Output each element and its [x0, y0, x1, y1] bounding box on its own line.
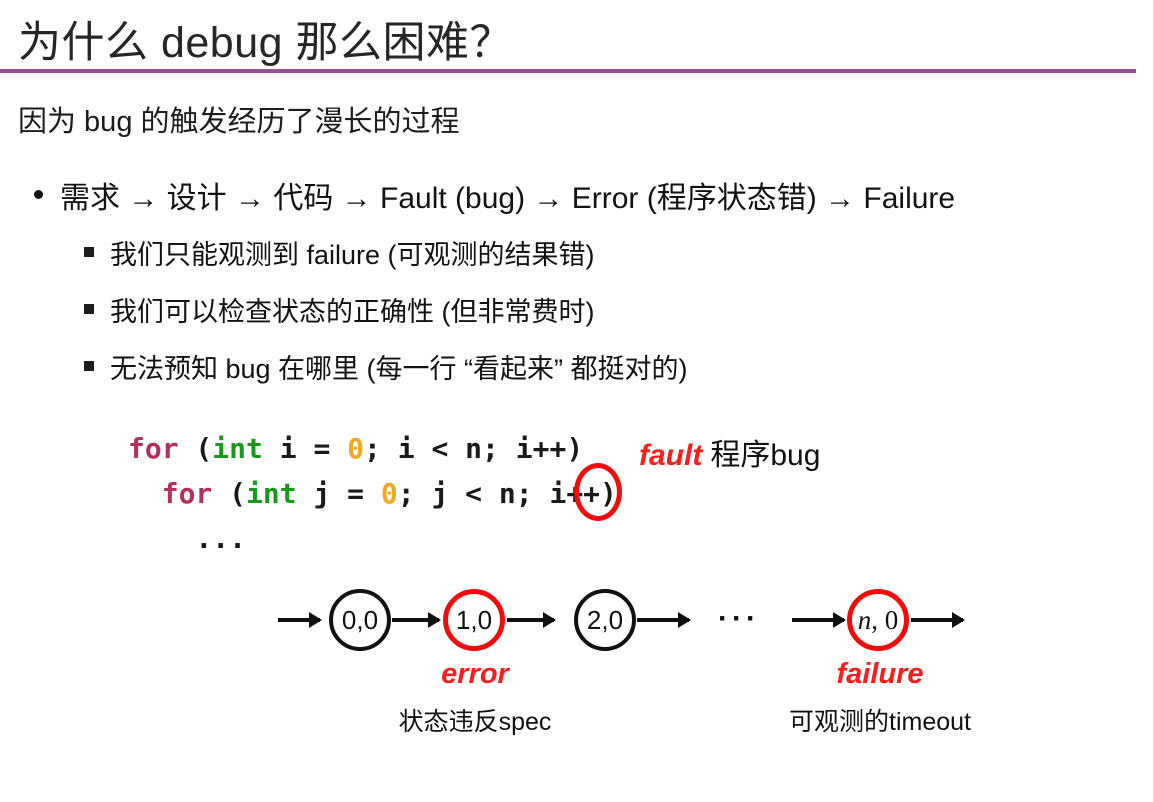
diagram-node-1-0: 1,0	[443, 589, 505, 651]
code-type-int-2: int	[246, 477, 297, 510]
diagram-node-n-0-rest: , 0	[871, 605, 898, 635]
bullet-square-icon	[84, 304, 94, 314]
fault-note-label: 程序bug	[710, 439, 820, 472]
bullet-sub-1: 我们只能观测到 failure (可观测的结果错)	[84, 233, 595, 272]
page-title: 为什么 debug 那么困难？	[18, 8, 513, 70]
diagram-node-0-0: 0,0	[329, 589, 391, 651]
code-number-2: 0	[381, 477, 398, 510]
diagram-node-0-0-label: 0,0	[342, 605, 378, 636]
diagram-arrow-out	[911, 618, 963, 622]
bullet-sub-3: 无法预知 bug 在哪里 (每一行 “看起来” 都挺对的)	[84, 347, 688, 386]
bullet-main-label: 需求 → 设计 → 代码 → Fault (bug) → Error (程序状态…	[60, 173, 955, 217]
code-var-2: j =	[297, 477, 381, 510]
code-var-1: i =	[263, 432, 347, 465]
failure-caption-label: 可观测的timeout	[765, 702, 995, 738]
diagram-arrow-2	[507, 618, 554, 622]
bullet-square-icon	[84, 247, 94, 257]
bullet-main: 需求 → 设计 → 代码 → Fault (bug) → Error (程序状态…	[34, 173, 955, 217]
diagram-node-2-0-label: 2,0	[587, 605, 623, 636]
bullet-sub-2: 我们可以检查状态的正确性 (但非常费时)	[84, 290, 594, 329]
diagram-arrow-4	[792, 618, 844, 622]
diagram-node-n-0: n, 0	[847, 589, 909, 651]
diagram-arrow-in	[278, 618, 320, 622]
subtitle-text: 因为 bug 的触发经历了漫长的过程	[18, 98, 460, 140]
failure-tag-label: failure	[805, 658, 955, 691]
fault-annotation: fault程序bug	[639, 430, 820, 474]
code-ellipsis-line: ...	[128, 522, 246, 555]
code-block: for (int i = 0; i < n; i++) for (int j =…	[128, 426, 617, 561]
bullet-square-icon	[84, 361, 94, 371]
code-keyword-for-1: for	[128, 432, 179, 465]
title-divider	[0, 69, 1136, 73]
code-indent-2	[128, 477, 162, 510]
bullet-sub-3-label: 无法预知 bug 在哪里 (每一行 “看起来” 都挺对的)	[110, 347, 688, 386]
diagram-arrow-3	[637, 618, 689, 622]
state-diagram: 0,0 1,0 2,0 ··· n, 0 error 状态违反spec fail	[0, 560, 1154, 760]
bullet-sub-1-label: 我们只能观测到 failure (可观测的结果错)	[110, 233, 595, 272]
diagram-node-2-0: 2,0	[574, 589, 636, 651]
code-punct-2: (	[212, 477, 246, 510]
code-number-1: 0	[347, 432, 364, 465]
code-type-int-1: int	[212, 432, 263, 465]
diagram-node-n-0-var: n	[858, 605, 872, 635]
code-keyword-for-2: for	[162, 477, 213, 510]
bug-highlight-ellipse-icon	[574, 463, 622, 521]
diagram-gap-ellipsis: ···	[718, 602, 760, 636]
bullet-sub-2-label: 我们可以检查状态的正确性 (但非常费时)	[110, 290, 594, 329]
fault-word-label: fault	[639, 439, 702, 472]
diagram-node-1-0-label: 1,0	[456, 605, 492, 636]
error-caption-label: 状态违反spec	[385, 702, 565, 738]
diagram-node-n-0-label: n, 0	[858, 605, 899, 636]
code-tail-1: ; i < n; i++)	[364, 432, 583, 465]
diagram-arrow-1	[392, 618, 439, 622]
code-punct-1: (	[179, 432, 213, 465]
slide-canvas: 为什么 debug 那么困难？ 因为 bug 的触发经历了漫长的过程 需求 → …	[0, 0, 1154, 802]
error-tag-label: error	[400, 658, 550, 691]
bullet-dot-icon	[34, 190, 43, 199]
